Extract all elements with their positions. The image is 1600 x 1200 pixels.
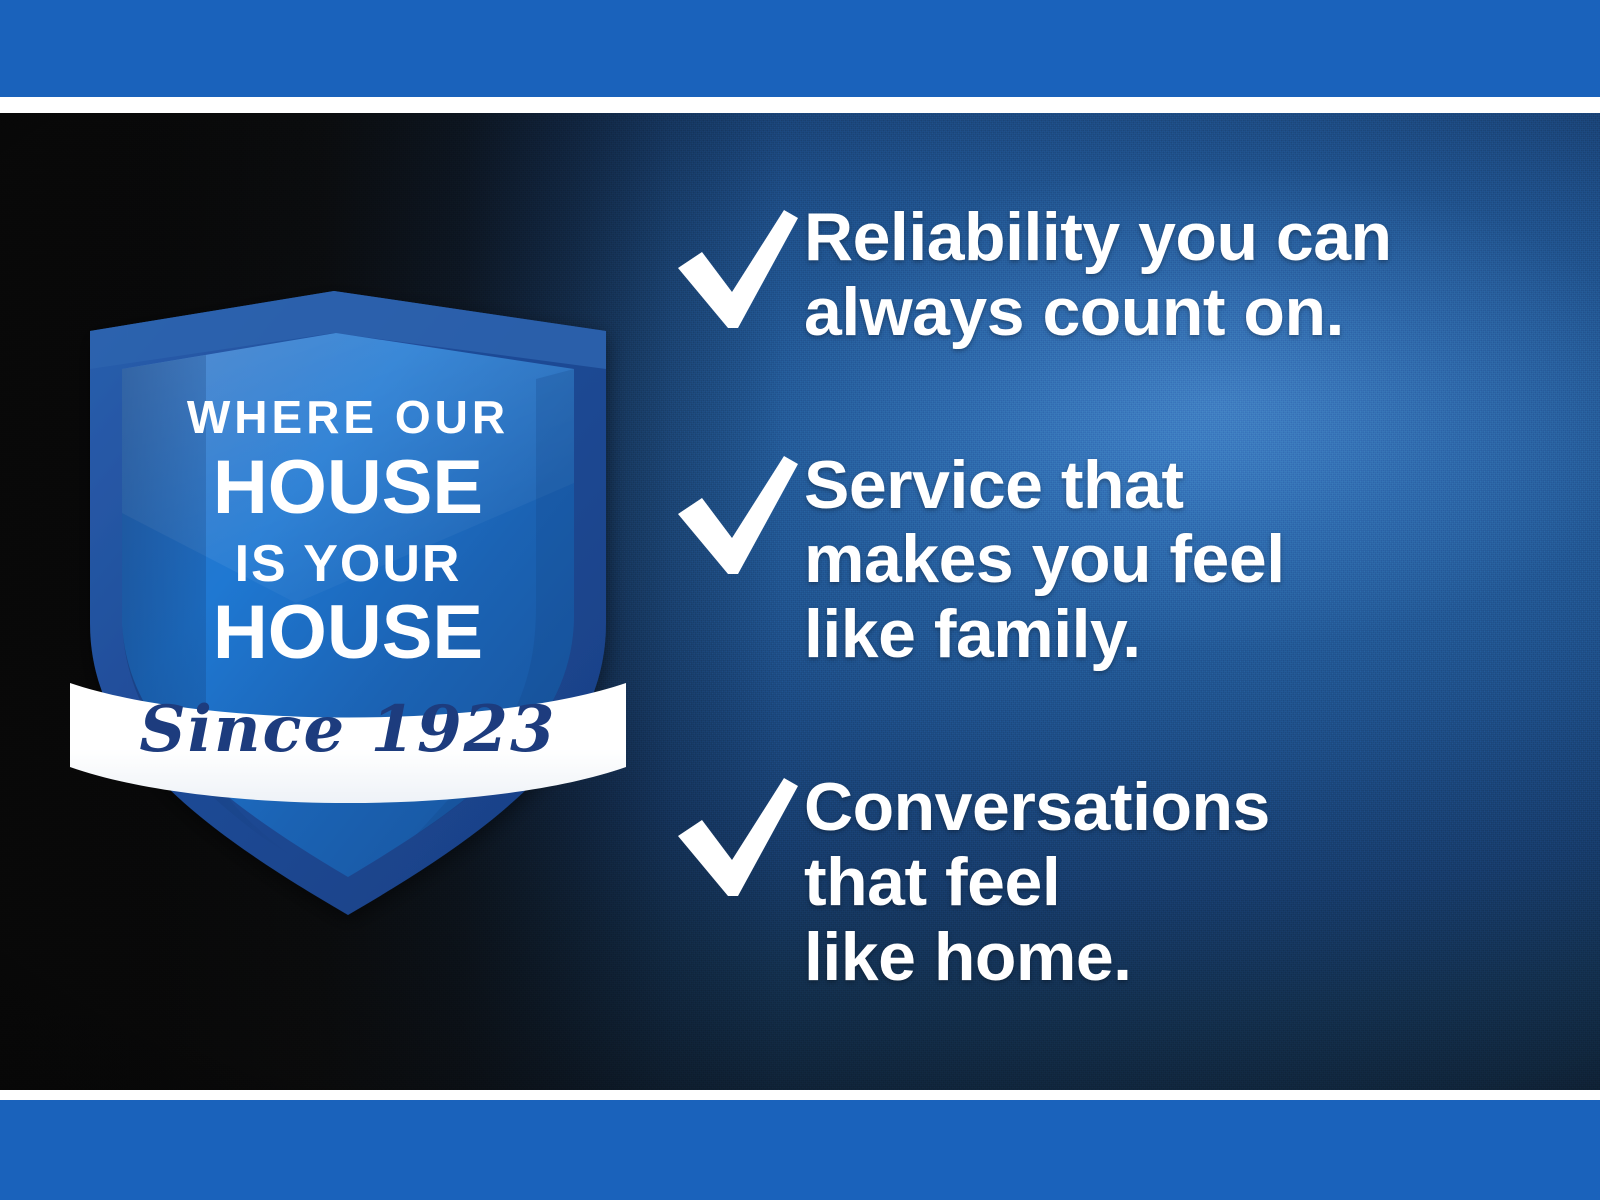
shield-line-2: HOUSE xyxy=(213,445,483,530)
shield-line-4: HOUSE xyxy=(213,590,483,675)
benefit-text: Service that makes you feel like family. xyxy=(804,446,1552,672)
since-banner-text: Since 1923 xyxy=(139,692,556,767)
benefit-text: Conversations that feel like home. xyxy=(804,768,1552,994)
shield-line-3: IS YOUR xyxy=(235,535,462,593)
benefit-item: Conversations that feel like home. xyxy=(672,768,1552,994)
benefits-list: Reliability you can always count on. Ser… xyxy=(672,200,1552,994)
benefit-text: Reliability you can always count on. xyxy=(804,200,1552,350)
checkmark-icon xyxy=(672,206,804,332)
checkmark-icon xyxy=(672,452,804,578)
since-banner: Since 1923 xyxy=(70,683,626,803)
brand-emblem: WHERE OUR HOUSE IS YOUR HOUSE Since 1923 xyxy=(66,183,626,923)
checkmark-icon xyxy=(672,774,804,900)
bottom-brand-bar xyxy=(0,1100,1600,1200)
shield-line-1: WHERE OUR xyxy=(187,391,509,443)
promo-poster: WHERE OUR HOUSE IS YOUR HOUSE Since 1923… xyxy=(0,0,1600,1200)
benefit-item: Reliability you can always count on. xyxy=(672,200,1552,350)
top-brand-bar xyxy=(0,0,1600,97)
benefit-item: Service that makes you feel like family. xyxy=(672,446,1552,672)
